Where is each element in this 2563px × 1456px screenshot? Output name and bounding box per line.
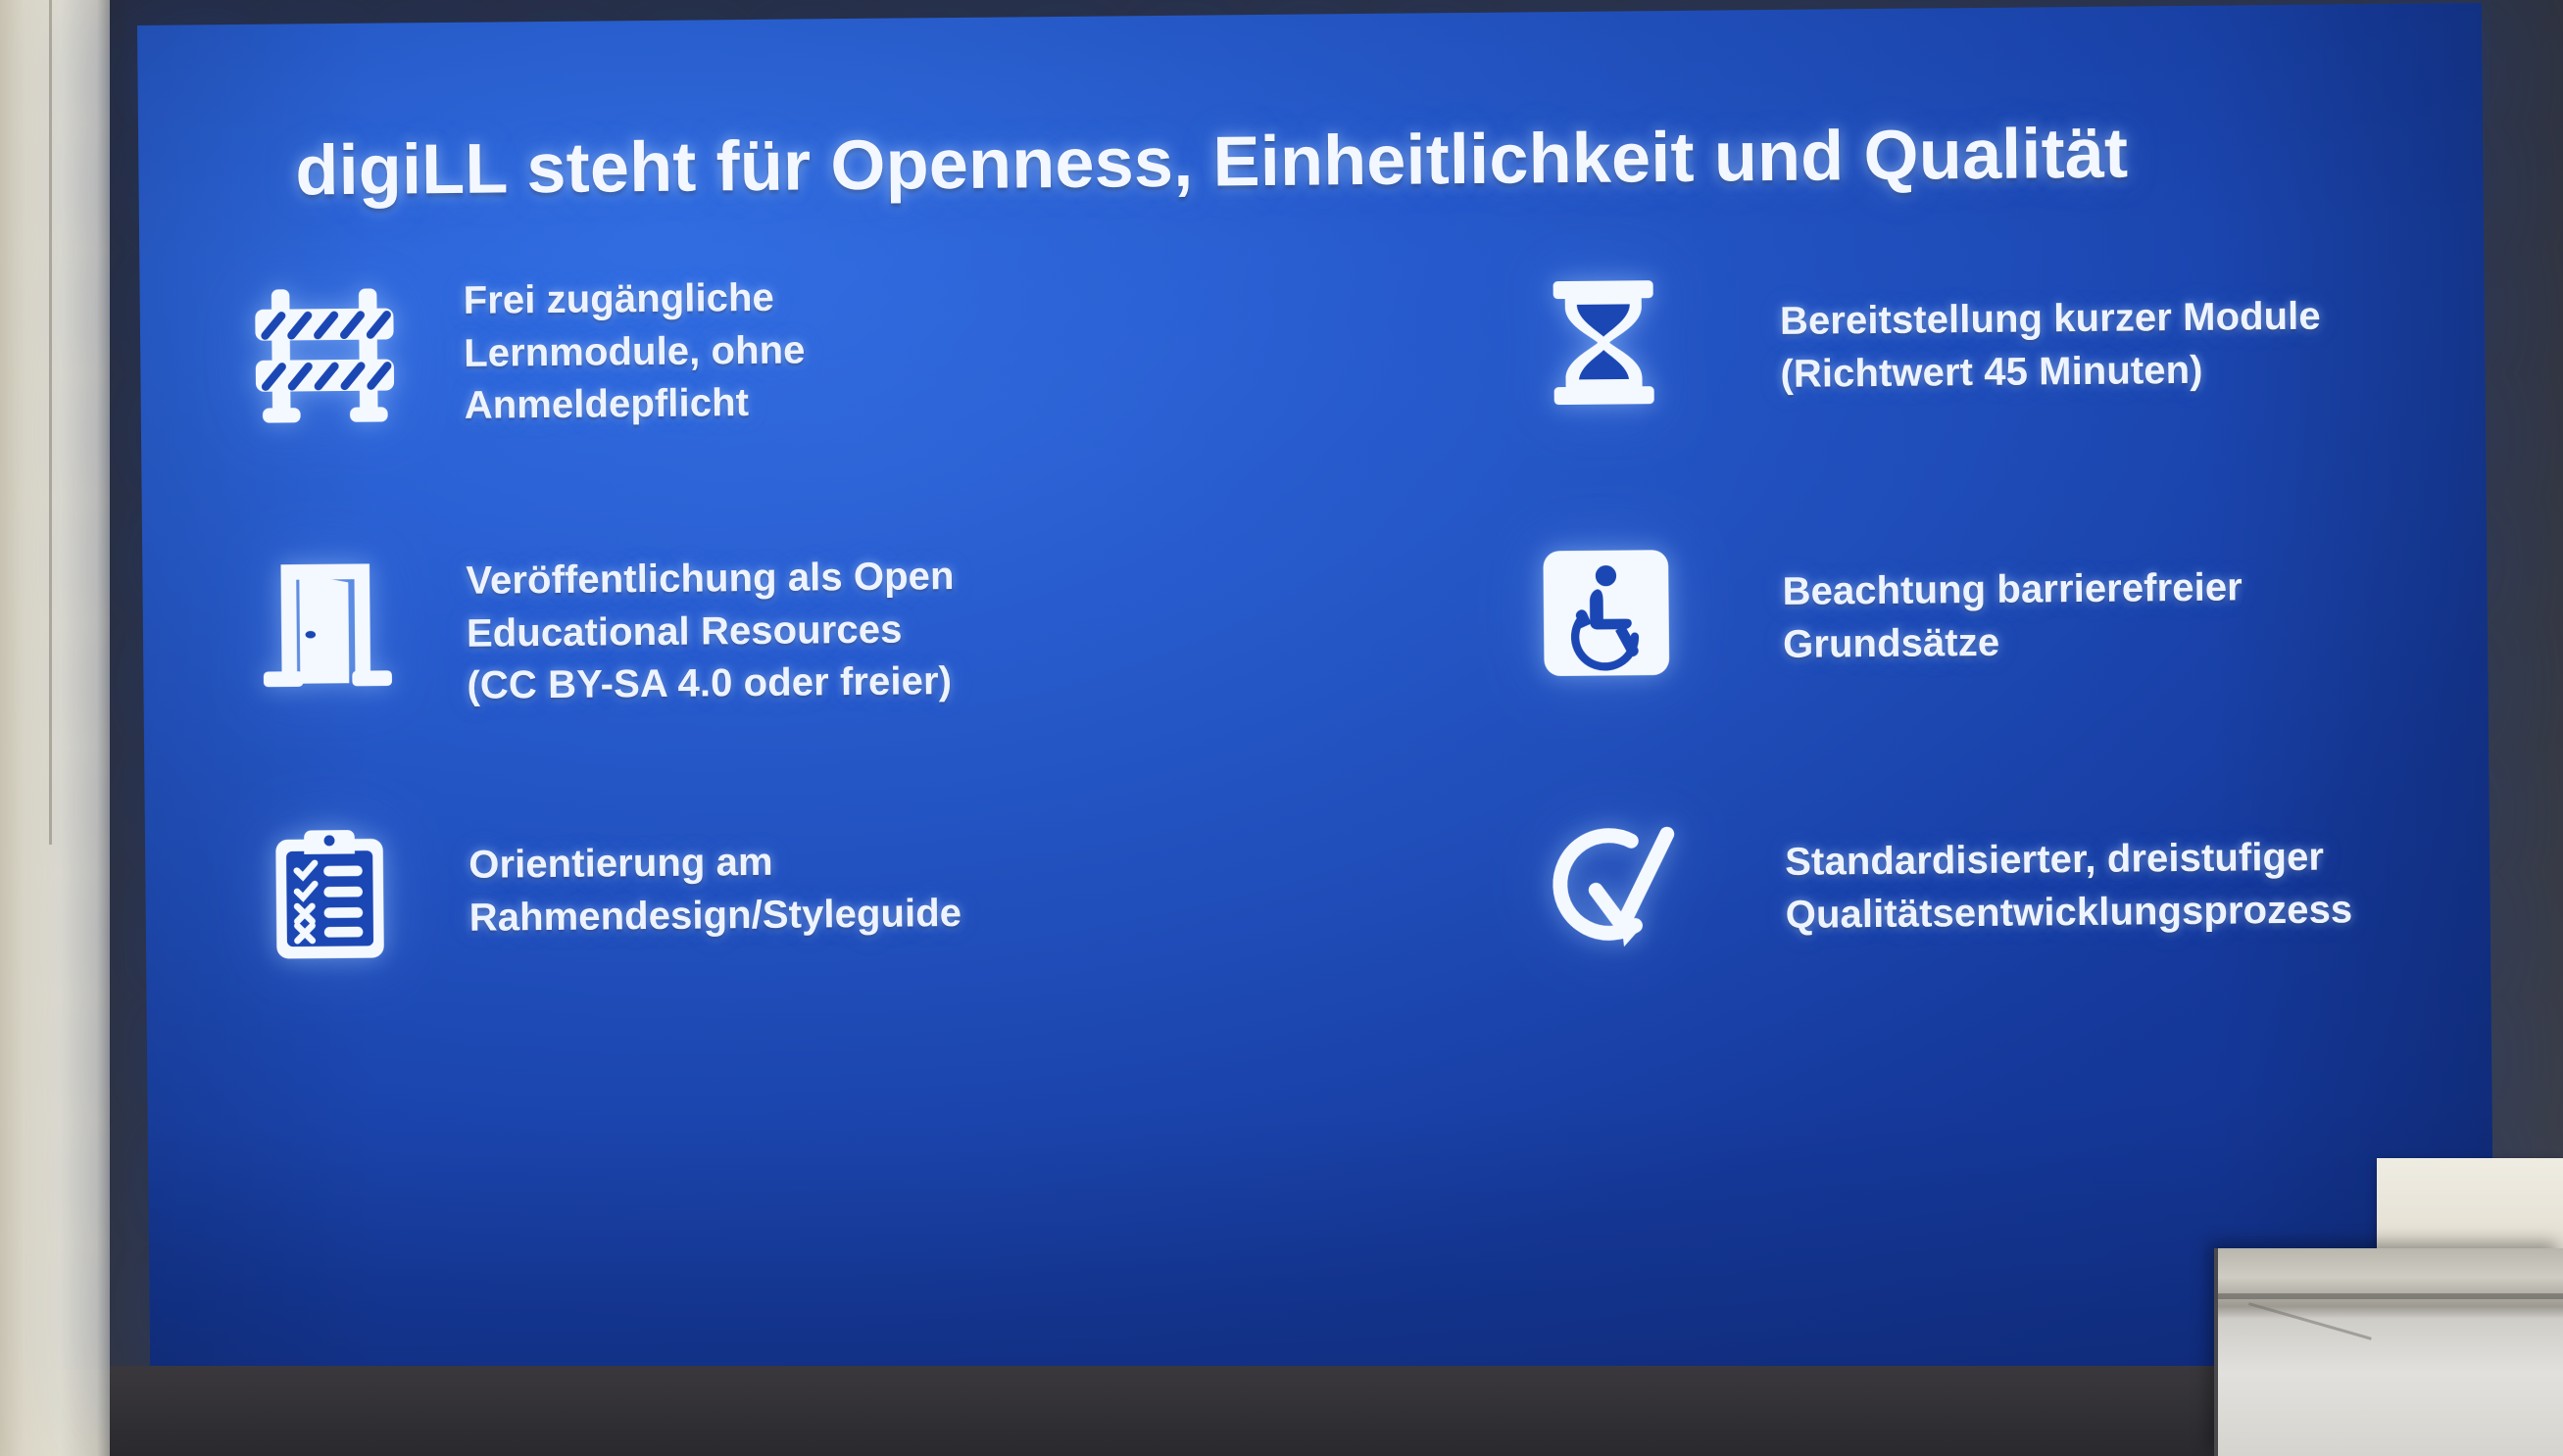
bullet-text: Veröffentlichung als Open Educational Re… [466, 551, 956, 713]
bullet-line: Beachtung barrierefreier [1782, 561, 2243, 618]
clipboard-checklist-icon [241, 806, 419, 985]
slide-title: digiLL steht für Openness, Einheitlichke… [295, 114, 2335, 208]
bullet-text: Frei zugängliche Lernmodule, ohne Anmeld… [463, 271, 806, 432]
bottom-shadow-band [110, 1366, 2563, 1456]
bullet-text: Orientierung am Rahmendesign/Styleguide [468, 835, 961, 945]
bullet-line: Frei zugängliche [463, 271, 805, 327]
bullet-item-qualitaetsprozess: Standardisierter, dreistufiger Qualitäts… [1403, 786, 2495, 1067]
bullet-item-bereitstellung-kurzer-module: Bereitstellung kurzer Module (Richtwert … [1397, 245, 2494, 526]
bullet-line: (CC BY-SA 4.0 oder freier) [467, 655, 956, 712]
bullet-line: (Richtwert 45 Minuten) [1780, 343, 2321, 401]
bullet-item-veroeffentlichung-oer: Veröffentlichung als Open Educational Re… [238, 527, 1403, 808]
bullet-line: Grundsätze [1783, 614, 2243, 671]
bullet-text: Bereitstellung kurzer Module (Richtwert … [1780, 291, 2322, 401]
bullet-item-orientierung-styleguide: Orientierung am Rahmendesign/Styleguide [241, 798, 1405, 1079]
bullet-line: Bereitstellung kurzer Module [1780, 291, 2321, 349]
bullet-line: Anmeldepflicht [464, 377, 806, 433]
bullet-line: Rahmendesign/Styleguide [469, 888, 962, 945]
bullet-line: Lernmodule, ohne [464, 324, 806, 380]
wall-strip [0, 0, 110, 1456]
refresh-check-icon [1520, 795, 1699, 973]
presentation-slide: digiLL steht für Openness, Einheitlichke… [137, 3, 2494, 1391]
open-door-icon [238, 536, 417, 714]
bullet-line: Educational Resources [467, 604, 956, 660]
road-barrier-icon [235, 266, 414, 444]
projection-scene: digiLL steht für Openness, Einheitlichke… [0, 0, 2563, 1456]
bullet-line: Qualitätsentwicklungsprozess [1786, 884, 2353, 942]
hourglass-icon [1514, 254, 1693, 432]
bullet-text: Beachtung barrierefreier Grundsätze [1782, 561, 2243, 671]
wheelchair-accessibility-icon [1517, 524, 1696, 703]
content-grid: Frei zugängliche Lernmodule, ohne Anmeld… [139, 246, 2491, 1080]
flipchart-board [2214, 1248, 2563, 1456]
bullet-text: Standardisierter, dreistufiger Qualitäts… [1785, 831, 2353, 942]
bullet-line: Orientierung am [468, 835, 961, 892]
bullet-line: Standardisierter, dreistufiger [1785, 831, 2352, 889]
bullet-item-frei-zugaengliche: Frei zugängliche Lernmodule, ohne Anmeld… [235, 257, 1400, 538]
bullet-line: Veröffentlichung als Open [466, 551, 955, 607]
bullet-item-barrierefreiheit: Beachtung barrierefreier Grundsätze [1400, 515, 2494, 797]
